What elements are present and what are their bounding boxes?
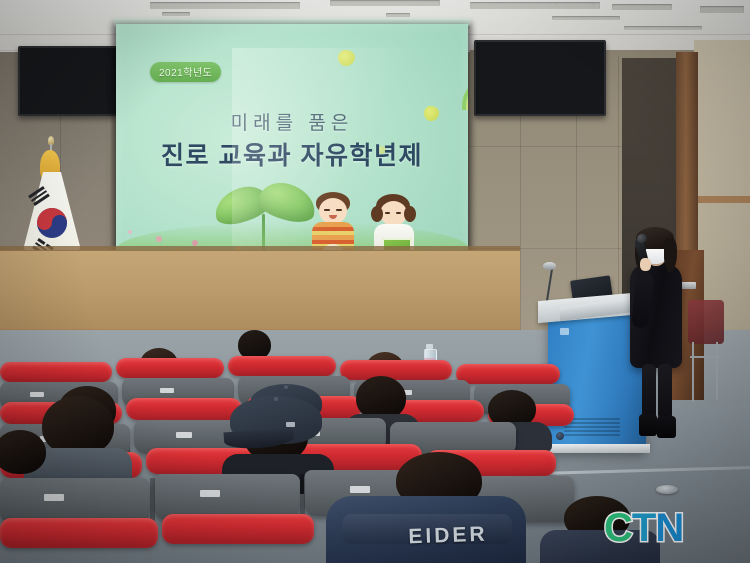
podium-sticker bbox=[560, 328, 569, 335]
seat-label bbox=[176, 432, 192, 438]
wall-display-right-icon bbox=[474, 40, 606, 116]
presenter-hand bbox=[640, 258, 651, 271]
jacket-brand-text: EIDER bbox=[388, 522, 509, 550]
leaf-sparkle-icon bbox=[338, 50, 355, 66]
seat-label bbox=[160, 388, 174, 393]
chair-leg bbox=[692, 342, 694, 402]
seat-gap bbox=[150, 478, 155, 524]
gooseneck-mic-head-icon bbox=[543, 262, 556, 270]
stage-wood-floor bbox=[0, 250, 520, 330]
floor-outlet-icon bbox=[656, 485, 678, 494]
auditorium-seat bbox=[228, 356, 336, 376]
auditorium-seat bbox=[116, 358, 224, 378]
auditorium-seat bbox=[0, 362, 112, 382]
ctn-letter-n: N bbox=[655, 506, 683, 551]
ctn-letter-c: C bbox=[604, 506, 632, 551]
presenter-leg bbox=[642, 364, 656, 420]
ctn-letter-t: T bbox=[632, 506, 655, 551]
auditorium-seat bbox=[0, 518, 158, 548]
chair-rail bbox=[690, 356, 720, 358]
auditorium-seat bbox=[456, 364, 560, 384]
wall-trim bbox=[694, 196, 750, 203]
audience-person bbox=[0, 430, 50, 500]
rainbow-icon bbox=[462, 76, 468, 110]
photo-scene: 2021학년도 미래를 품은 진로 교육과 자유학년제 bbox=[0, 0, 750, 563]
slide-title: 진로 교육과 자유학년제 bbox=[116, 136, 468, 172]
chair-leg bbox=[716, 342, 718, 400]
seat-label bbox=[200, 490, 220, 497]
slide-subtitle: 미래를 품은 bbox=[116, 108, 468, 135]
wall-display-left-icon bbox=[18, 46, 118, 116]
presenter bbox=[628, 228, 692, 440]
auditorium-seat bbox=[162, 514, 314, 544]
flower-dot bbox=[156, 236, 162, 242]
podium-base bbox=[544, 444, 650, 453]
presenter-boot bbox=[639, 414, 657, 436]
ctn-watermark: CTN bbox=[604, 506, 683, 551]
stage-baseboard bbox=[0, 246, 520, 251]
presenter-leg bbox=[658, 364, 672, 420]
podium-knob[interactable] bbox=[556, 432, 564, 440]
stacked-chair bbox=[688, 300, 724, 344]
taeguk-symbol bbox=[37, 208, 67, 238]
flower-dot bbox=[128, 230, 132, 234]
slide-year-badge: 2021학년도 bbox=[150, 62, 221, 82]
presenter-boot bbox=[657, 416, 676, 438]
